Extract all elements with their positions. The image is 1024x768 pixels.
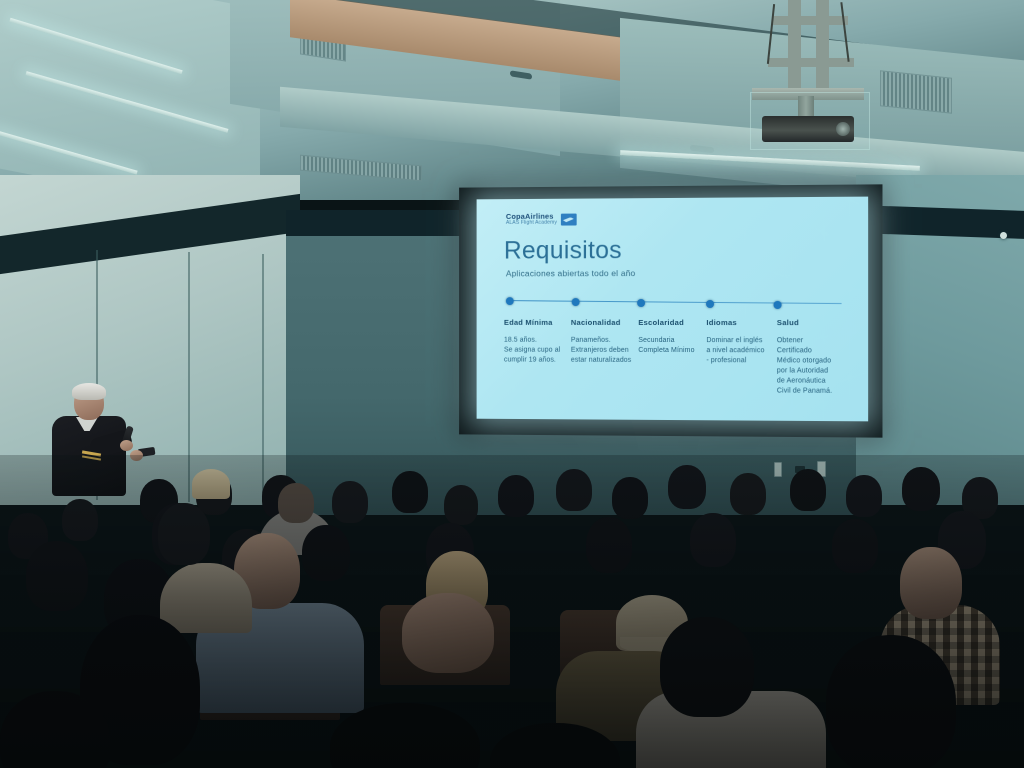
timeline-dot-2 bbox=[572, 298, 580, 306]
timeline-dot-5 bbox=[774, 301, 782, 309]
projector-cable-left bbox=[767, 4, 775, 64]
presentation-slide: CopaAirlines ALAS Flight Academy Requisi… bbox=[477, 197, 869, 422]
presenter-hair bbox=[72, 383, 106, 400]
slide-title: Requisitos bbox=[504, 236, 622, 265]
requirement-column: Escolaridad Secundaria Completa Mínimo bbox=[638, 318, 706, 396]
timeline-graphic bbox=[506, 295, 842, 307]
presenter-hand-mic bbox=[120, 440, 133, 451]
copa-alas-logo: CopaAirlines ALAS Flight Academy bbox=[506, 213, 577, 227]
projector-bracket-cross-2 bbox=[768, 58, 854, 67]
audience-dim-overlay bbox=[0, 455, 1024, 768]
requirement-column: Edad Mínima 18.5 años. Se asigna cupo al… bbox=[504, 318, 571, 395]
projector-bracket-cross-1 bbox=[772, 16, 848, 25]
timeline-line bbox=[510, 300, 842, 304]
column-body: Panameños. Extranjeros deben estar natur… bbox=[571, 336, 633, 366]
column-heading: Escolaridad bbox=[638, 318, 700, 327]
projection-screen: CopaAirlines ALAS Flight Academy Requisi… bbox=[459, 184, 882, 437]
column-body: 18.5 años. Se asigna cupo al cumplir 19 … bbox=[504, 336, 565, 366]
column-heading: Edad Mínima bbox=[504, 318, 565, 327]
column-heading: Nacionalidad bbox=[571, 318, 633, 327]
requirements-columns: Edad Mínima 18.5 años. Se asigna cupo al… bbox=[504, 318, 850, 397]
projector-cable-right bbox=[840, 2, 849, 62]
airplane-tail-icon bbox=[561, 213, 577, 225]
timeline-dot-1 bbox=[506, 297, 514, 305]
column-body: Secundaria Completa Mínimo bbox=[638, 336, 700, 356]
column-body: Obtener Certificado Médico otorgado por … bbox=[777, 336, 844, 396]
requirement-column: Nacionalidad Panameños. Extranjeros debe… bbox=[571, 318, 638, 396]
slide-subtitle: Aplicaciones abiertas todo el año bbox=[506, 268, 636, 278]
column-heading: Salud bbox=[777, 318, 844, 327]
logo-subbrand-text: ALAS Flight Academy bbox=[506, 221, 557, 227]
projector-lens-icon bbox=[836, 122, 850, 136]
projector-bracket-vertical bbox=[788, 0, 801, 100]
projector-bracket-vertical-2 bbox=[816, 0, 829, 95]
sprinkler-icon bbox=[1000, 232, 1007, 239]
ceiling-projector bbox=[744, 0, 874, 150]
requirement-column: Idiomas Dominar el inglés a nivel académ… bbox=[706, 318, 776, 396]
timeline-dot-4 bbox=[706, 300, 714, 308]
ceiling-air-vent-2 bbox=[880, 70, 952, 114]
audience bbox=[0, 455, 1024, 768]
column-body: Dominar el inglés a nivel académico - pr… bbox=[706, 336, 770, 366]
timeline-dot-3 bbox=[637, 299, 645, 307]
column-heading: Idiomas bbox=[706, 318, 770, 327]
requirement-column: Salud Obtener Certificado Médico otorgad… bbox=[777, 318, 850, 397]
conference-hall-photo: CopaAirlines ALAS Flight Academy Requisi… bbox=[0, 0, 1024, 768]
